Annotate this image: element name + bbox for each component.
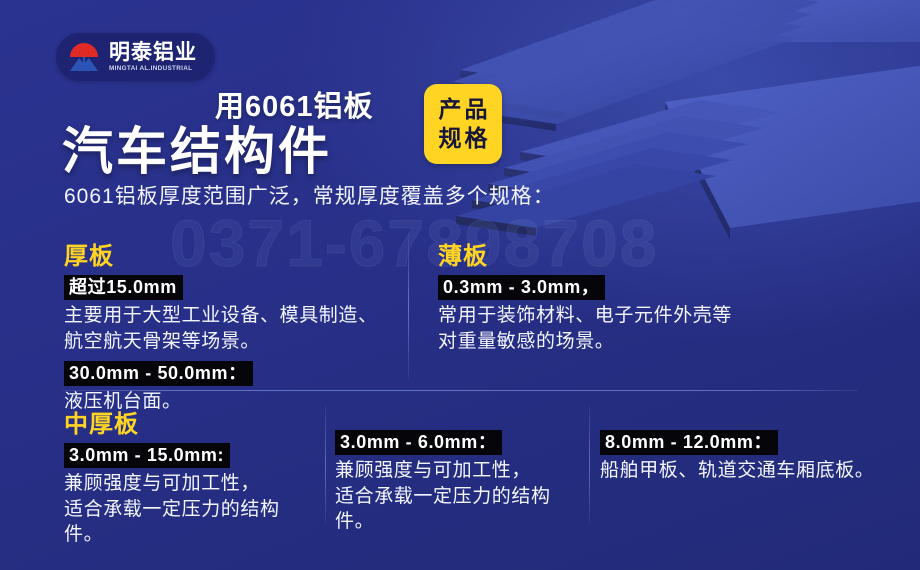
- spec-desc-line: 常用于装饰材料、电子元件外壳等: [438, 303, 768, 328]
- brand-logo[interactable]: 明泰铝业 MINGTAI AL.INDUSTRIAL: [56, 33, 215, 81]
- divider-vertical-lower-1: [325, 405, 326, 525]
- divider-vertical-upper: [408, 232, 409, 380]
- sun-mountain-icon: [66, 41, 102, 73]
- section-heading: 厚板: [64, 236, 394, 271]
- spec-entry: 超过15.0mm 主要用于大型工业设备、模具制造、 航空航天骨架等场景。: [64, 275, 394, 354]
- spec-range-tag: 超过15.0mm: [64, 275, 183, 300]
- spec-desc-line: 对重量敏感的场景。: [438, 329, 768, 354]
- spacer: [64, 354, 394, 361]
- spec-range-tag: 8.0mm - 12.0mm：: [600, 430, 778, 455]
- product-spec-badge: 产品 规格: [424, 84, 502, 164]
- badge-line-1: 产品: [436, 95, 491, 124]
- spec-entry: 3.0mm - 15.0mm: 兼顾强度与可加工性， 适合承载一定压力的结构件。: [64, 443, 314, 548]
- poster-canvas: 0371-67898708 明泰铝业 MINGTAI AL.INDUSTRIAL…: [0, 0, 920, 570]
- section-heading: 薄板: [438, 236, 768, 271]
- spec-range-tag: 30.0mm - 50.0mm：: [64, 361, 253, 386]
- spec-entry: 0.3mm - 3.0mm， 常用于装饰材料、电子元件外壳等 对重量敏感的场景。: [438, 275, 768, 354]
- page-title: 汽车结构件: [62, 110, 332, 184]
- section-thin-plate: 薄板 0.3mm - 3.0mm， 常用于装饰材料、电子元件外壳等 对重量敏感的…: [438, 236, 768, 354]
- section-heading: 中厚板: [64, 404, 314, 439]
- spec-desc-line: 兼顾强度与可加工性，: [64, 471, 314, 496]
- brand-name-en: MINGTAI AL.INDUSTRIAL: [109, 66, 197, 72]
- spec-desc-line: 航空航天骨架等场景。: [64, 329, 394, 354]
- divider-vertical-lower-2: [589, 405, 590, 525]
- spec-desc-line: 主要用于大型工业设备、模具制造、: [64, 303, 394, 328]
- spec-range-tag: 3.0mm - 6.0mm：: [335, 430, 502, 455]
- spec-desc-line: 船舶甲板、轨道交通车厢底板。: [600, 458, 890, 483]
- spec-desc-line: 兼顾强度与可加工性，: [335, 458, 585, 483]
- badge-line-2: 规格: [436, 124, 491, 153]
- section-thick-plate: 厚板 超过15.0mm 主要用于大型工业设备、模具制造、 航空航天骨架等场景。 …: [64, 236, 394, 415]
- section-medium-thick-plate: 中厚板 3.0mm - 15.0mm: 兼顾强度与可加工性， 适合承载一定压力的…: [64, 404, 314, 548]
- spec-entry-medium-3: 8.0mm - 12.0mm： 船舶甲板、轨道交通车厢底板。: [600, 430, 890, 484]
- spec-desc-line: 适合承载一定压力的结构件。: [64, 497, 314, 548]
- intro-text: 6061铝板厚度范围广泛，常规厚度覆盖多个规格：: [64, 180, 555, 210]
- spec-range-tag: 0.3mm - 3.0mm，: [438, 275, 605, 300]
- brand-name-cn: 明泰铝业: [109, 42, 197, 63]
- spec-entry-medium-2: 3.0mm - 6.0mm： 兼顾强度与可加工性， 适合承载一定压力的结构件。: [335, 430, 585, 535]
- spec-range-tag: 3.0mm - 15.0mm:: [64, 443, 230, 468]
- spec-desc-line: 适合承载一定压力的结构件。: [335, 484, 585, 535]
